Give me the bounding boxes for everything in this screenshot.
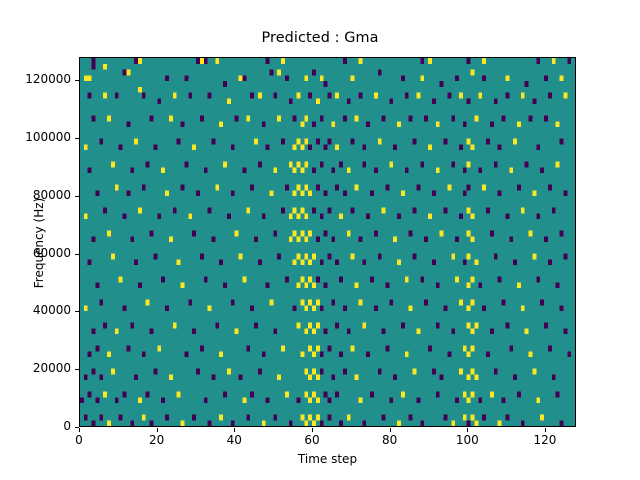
x-tick-mark <box>467 428 468 432</box>
heatmap-cells <box>80 58 575 426</box>
x-tick-label: 120 <box>515 433 575 447</box>
y-tick-mark <box>75 254 79 255</box>
x-tick-mark <box>234 428 235 432</box>
x-tick-label: 0 <box>49 433 109 447</box>
chart-title: Predicted : Gma <box>0 30 640 46</box>
x-tick-mark <box>545 428 546 432</box>
x-tick-label: 80 <box>360 433 420 447</box>
x-tick-label: 100 <box>437 433 497 447</box>
x-tick-mark <box>79 428 80 432</box>
y-tick-mark <box>75 369 79 370</box>
x-axis-label: Time step <box>79 452 576 466</box>
y-tick-mark <box>75 138 79 139</box>
x-tick-mark <box>390 428 391 432</box>
x-tick-label: 40 <box>204 433 264 447</box>
x-tick-mark <box>312 428 313 432</box>
heatmap-axes[interactable] <box>79 57 576 427</box>
x-tick-label: 60 <box>282 433 342 447</box>
y-tick-mark <box>75 311 79 312</box>
y-axis-label: Frequency (Hz) <box>32 58 46 428</box>
y-tick-mark <box>75 427 79 428</box>
x-tick-mark <box>157 428 158 432</box>
x-tick-label: 20 <box>127 433 187 447</box>
y-tick-mark <box>75 80 79 81</box>
figure-canvas: Predicted : Gma 020406080100120 02000040… <box>0 0 640 480</box>
y-tick-mark <box>75 196 79 197</box>
